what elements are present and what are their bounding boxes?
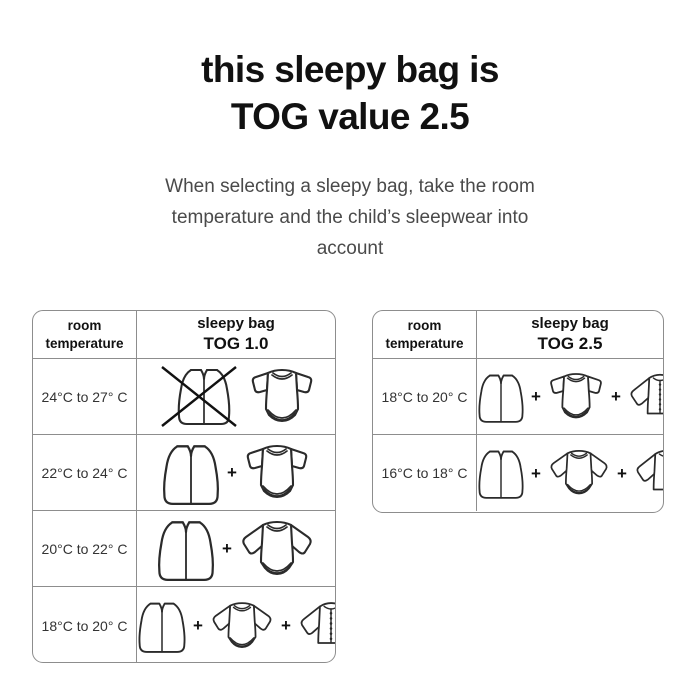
table-row: 20°C to 22° C +: [33, 511, 335, 587]
row-garments: +: [137, 435, 335, 510]
page-title: this sleepy bag is TOG value 2.5: [0, 46, 700, 141]
row-garments: + +: [477, 435, 664, 511]
header-sleepy-bag-line-2: TOG 1.0: [204, 333, 269, 355]
header-sleepy-bag-line-2: TOG 2.5: [538, 333, 603, 355]
table-header-row: room temperature sleepy bag TOG 1.0: [33, 311, 335, 359]
sleepy-bag-crossed-out-icon: [156, 362, 242, 432]
header-room-temperature-line-2: temperature: [45, 335, 123, 352]
row-temperature: 24°C to 27° C: [33, 359, 137, 434]
sleepy-bag-icon: [477, 444, 525, 502]
header-room-temperature: room temperature: [33, 311, 137, 358]
header-sleepy-bag-line-1: sleepy bag: [197, 314, 275, 333]
long-sleeve-bodysuit-icon: [547, 445, 611, 501]
table-header-row: room temperature sleepy bag TOG 2.5: [373, 311, 663, 359]
row-temperature: 16°C to 18° C: [373, 435, 477, 511]
row-temperature: 22°C to 24° C: [33, 435, 137, 510]
header-room-temperature-line-1: room: [408, 317, 442, 334]
short-sleeve-bodysuit-icon: [547, 369, 605, 425]
sleepy-bag-icon: [156, 516, 216, 582]
tog-1-0-table: room temperature sleepy bag TOG 1.0 24°C…: [32, 310, 336, 663]
plus-separator: +: [222, 540, 232, 557]
header-room-temperature-line-2: temperature: [385, 335, 463, 352]
row-temperature: 18°C to 20° C: [33, 587, 137, 663]
header-sleepy-bag-tog: sleepy bag TOG 2.5: [477, 311, 663, 358]
plus-separator: +: [281, 617, 291, 634]
row-garments: +: [137, 511, 335, 586]
sleepy-bag-icon: [477, 368, 525, 426]
plus-separator: +: [193, 617, 203, 634]
plus-separator: +: [617, 465, 627, 482]
plus-separator: +: [531, 465, 541, 482]
row-garments: [137, 359, 335, 434]
row-garments: + +: [477, 359, 664, 434]
page-title-line-1: this sleepy bag is: [0, 46, 700, 93]
plus-separator: +: [611, 388, 621, 405]
table-row: 18°C to 20° C + +: [33, 587, 335, 663]
row-temperature: 18°C to 20° C: [373, 359, 477, 434]
header-room-temperature: room temperature: [373, 311, 477, 358]
short-sleeve-bodysuit-icon: [243, 441, 311, 505]
sleepy-bag-icon: [161, 440, 221, 506]
sleepy-bag-icon: [137, 597, 187, 655]
cardigan-icon: [633, 445, 664, 501]
long-sleeve-bodysuit-icon: [209, 598, 275, 654]
long-sleeve-bodysuit-icon: [238, 517, 316, 581]
row-temperature: 20°C to 22° C: [33, 511, 137, 586]
header-sleepy-bag-line-1: sleepy bag: [531, 314, 609, 333]
tog-2-5-table: room temperature sleepy bag TOG 2.5 18°C…: [372, 310, 664, 513]
plus-separator: +: [531, 388, 541, 405]
table-row: 24°C to 27° C: [33, 359, 335, 435]
cardigan-icon: [627, 369, 664, 425]
plus-separator: +: [227, 464, 237, 481]
page-title-line-2: TOG value 2.5: [0, 93, 700, 140]
cardigan-icon: [297, 598, 336, 654]
row-garments: + +: [137, 587, 336, 663]
table-row: 16°C to 18° C + +: [373, 435, 663, 511]
table-row: 18°C to 20° C + +: [373, 359, 663, 435]
short-sleeve-bodysuit-icon: [248, 365, 316, 429]
table-row: 22°C to 24° C +: [33, 435, 335, 511]
page-subtitle: When selecting a sleepy bag, take the ro…: [140, 172, 560, 264]
header-sleepy-bag-tog: sleepy bag TOG 1.0: [137, 311, 335, 358]
header-room-temperature-line-1: room: [68, 317, 102, 334]
